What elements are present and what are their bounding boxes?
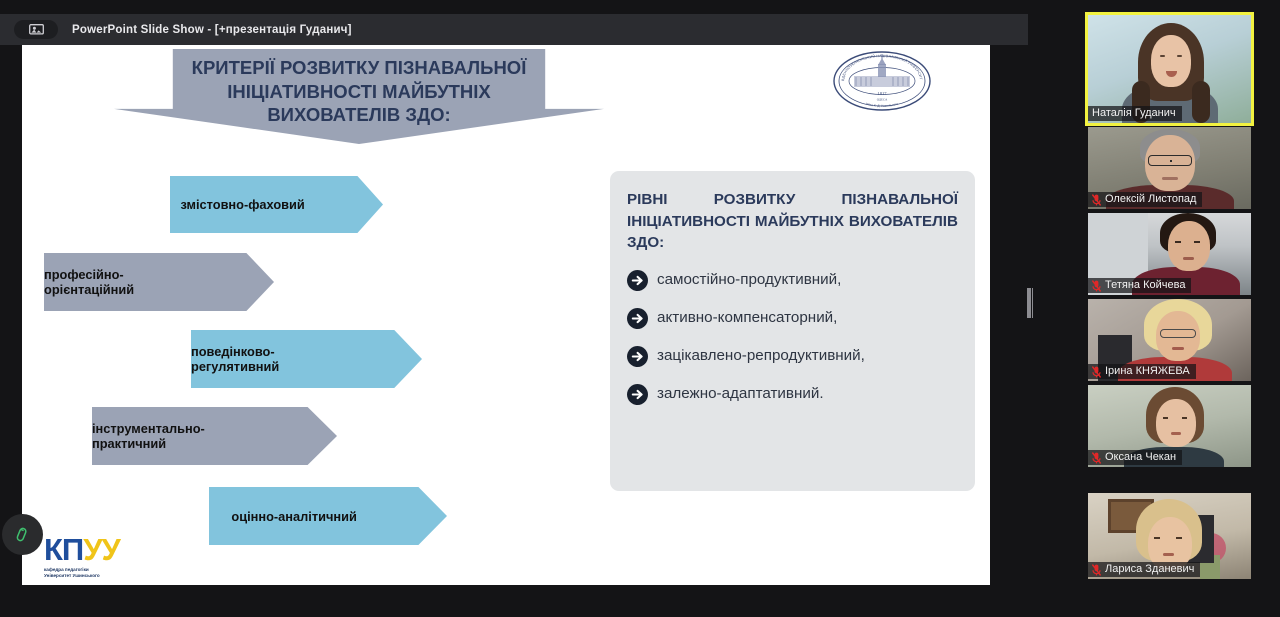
participant-name-badge: Ірина КНЯЖЕВА: [1088, 364, 1196, 379]
participant-name-badge: Лариса Зданевич: [1088, 562, 1200, 577]
level-list-item[interactable]: активно-компенсаторний,: [627, 308, 958, 329]
muted-microphone-icon: [1092, 451, 1101, 463]
criteria-arrow-label: оцінно-аналітичний: [231, 509, 356, 524]
drag-grip-icon[interactable]: [1027, 288, 1033, 318]
participant-tile[interactable]: Олексій Листопад: [1088, 127, 1251, 209]
shared-window-title: PowerPoint Slide Show - [+презентація Гу…: [72, 24, 352, 36]
university-emblem-icon: 1817 ОДЕСА ПІВДЕННОУКРАЇНСЬКИЙ НАЦІОНАЛЬ…: [832, 50, 932, 112]
participant-name: Наталія Гуданич: [1092, 107, 1176, 119]
participant-sidebar: Наталія Гуданич: [1086, 0, 1280, 617]
kpu-department-logo: КПУУ кафедра педагогіки Університет Ушин…: [44, 535, 144, 579]
levels-info-panel: РІВНІ РОЗВИТКУ ПІЗНАВАЛЬНОЇ ІНІЦІАТИВНОС…: [610, 171, 975, 491]
participant-tile[interactable]: Ірина КНЯЖЕВА: [1088, 299, 1251, 381]
criteria-arrow-label: поведінково-регулятивний: [191, 344, 354, 374]
participant-tile[interactable]: Лариса Зданевич: [1088, 493, 1251, 579]
criteria-arrow-3[interactable]: поведінково-регулятивний: [191, 330, 422, 388]
kpu-logo-subtitle-line2: Університет Ушинського: [44, 573, 144, 579]
level-list-item[interactable]: залежно-адаптативний.: [627, 384, 958, 405]
shared-screen-area: PowerPoint Slide Show - [+презентація Гу…: [0, 0, 1080, 617]
level-label: самостійно-продуктивний,: [657, 271, 841, 289]
kpu-logo-part1: КП: [44, 532, 83, 567]
criteria-arrow-2[interactable]: професійно-орієнтаційний: [44, 253, 274, 311]
pen-annotation-icon[interactable]: [2, 514, 43, 555]
levels-panel-heading: РІВНІ РОЗВИТКУ ПІЗНАВАЛЬНОЇ ІНІЦІАТИВНОС…: [627, 189, 958, 254]
slide-title-arrow: КРИТЕРІЇ РОЗВИТКУ ПІЗНАВАЛЬНОЇ ІНІЦІАТИВ…: [114, 49, 604, 144]
participant-name-badge: Тетяна Койчева: [1088, 278, 1191, 293]
circle-arrow-right-icon: [627, 384, 648, 405]
circle-arrow-right-icon: [627, 270, 648, 291]
level-label: активно-компенсаторний,: [657, 309, 837, 327]
powerpoint-slide[interactable]: КРИТЕРІЇ РОЗВИТКУ ПІЗНАВАЛЬНОЇ ІНІЦІАТИВ…: [22, 45, 990, 585]
participant-name-badge: Олексій Листопад: [1088, 192, 1202, 207]
criteria-arrow-5[interactable]: оцінно-аналітичний: [209, 487, 447, 545]
level-list-item[interactable]: самостійно-продуктивний,: [627, 270, 958, 291]
participant-tile[interactable]: Оксана Чекан: [1088, 385, 1251, 467]
participant-tile[interactable]: Тетяна Койчева: [1088, 213, 1251, 295]
participant-name-badge: Наталія Гуданич: [1088, 106, 1182, 121]
svg-text:1817: 1817: [877, 91, 887, 96]
screen-share-icon[interactable]: [14, 20, 58, 39]
grip-line: [1032, 288, 1034, 318]
muted-microphone-icon: [1092, 563, 1101, 575]
shared-window-titlebar: PowerPoint Slide Show - [+презентація Гу…: [0, 14, 1028, 45]
participant-name: Олексій Листопад: [1105, 193, 1196, 205]
participant-tile[interactable]: Наталія Гуданич: [1088, 15, 1251, 123]
kpu-logo-subtitle: кафедра педагогіки Університет Ушинськог…: [44, 567, 144, 579]
svg-text:ОДЕСА: ОДЕСА: [877, 98, 888, 102]
circle-arrow-right-icon: [627, 346, 648, 367]
svg-text:імені К. Д. Ушинського: імені К. Д. Ушинського: [865, 101, 899, 108]
criteria-arrow-label: професійно-орієнтаційний: [44, 267, 206, 297]
participant-name: Лариса Зданевич: [1105, 563, 1194, 575]
participant-name: Ірина КНЯЖЕВА: [1105, 365, 1190, 377]
criteria-arrow-4[interactable]: інструментально-практичний: [92, 407, 337, 465]
slide-title: КРИТЕРІЇ РОЗВИТКУ ПІЗНАВАЛЬНОЇ ІНІЦІАТИВ…: [159, 56, 559, 127]
kpu-logo-wordmark: КПУУ: [44, 535, 144, 564]
criteria-arrow-label: інструментально-практичний: [92, 421, 269, 451]
circle-arrow-right-icon: [627, 308, 648, 329]
participant-name: Тетяна Койчева: [1105, 279, 1185, 291]
participant-name: Оксана Чекан: [1105, 451, 1176, 463]
level-list-item[interactable]: зацікавлено-репродуктивний,: [627, 346, 958, 367]
level-label: залежно-адаптативний.: [657, 385, 824, 403]
criteria-arrow-label: змістовно-фаховий: [180, 197, 304, 212]
level-label: зацікавлено-репродуктивний,: [657, 347, 865, 365]
muted-microphone-icon: [1092, 193, 1101, 205]
muted-microphone-icon: [1092, 279, 1101, 291]
muted-microphone-icon: [1092, 365, 1101, 377]
zoom-meeting-window: PowerPoint Slide Show - [+презентація Гу…: [0, 0, 1280, 617]
participant-name-badge: Оксана Чекан: [1088, 450, 1182, 465]
criteria-arrow-1[interactable]: змістовно-фаховий: [170, 176, 383, 233]
kpu-logo-part2: УУ: [83, 532, 120, 567]
